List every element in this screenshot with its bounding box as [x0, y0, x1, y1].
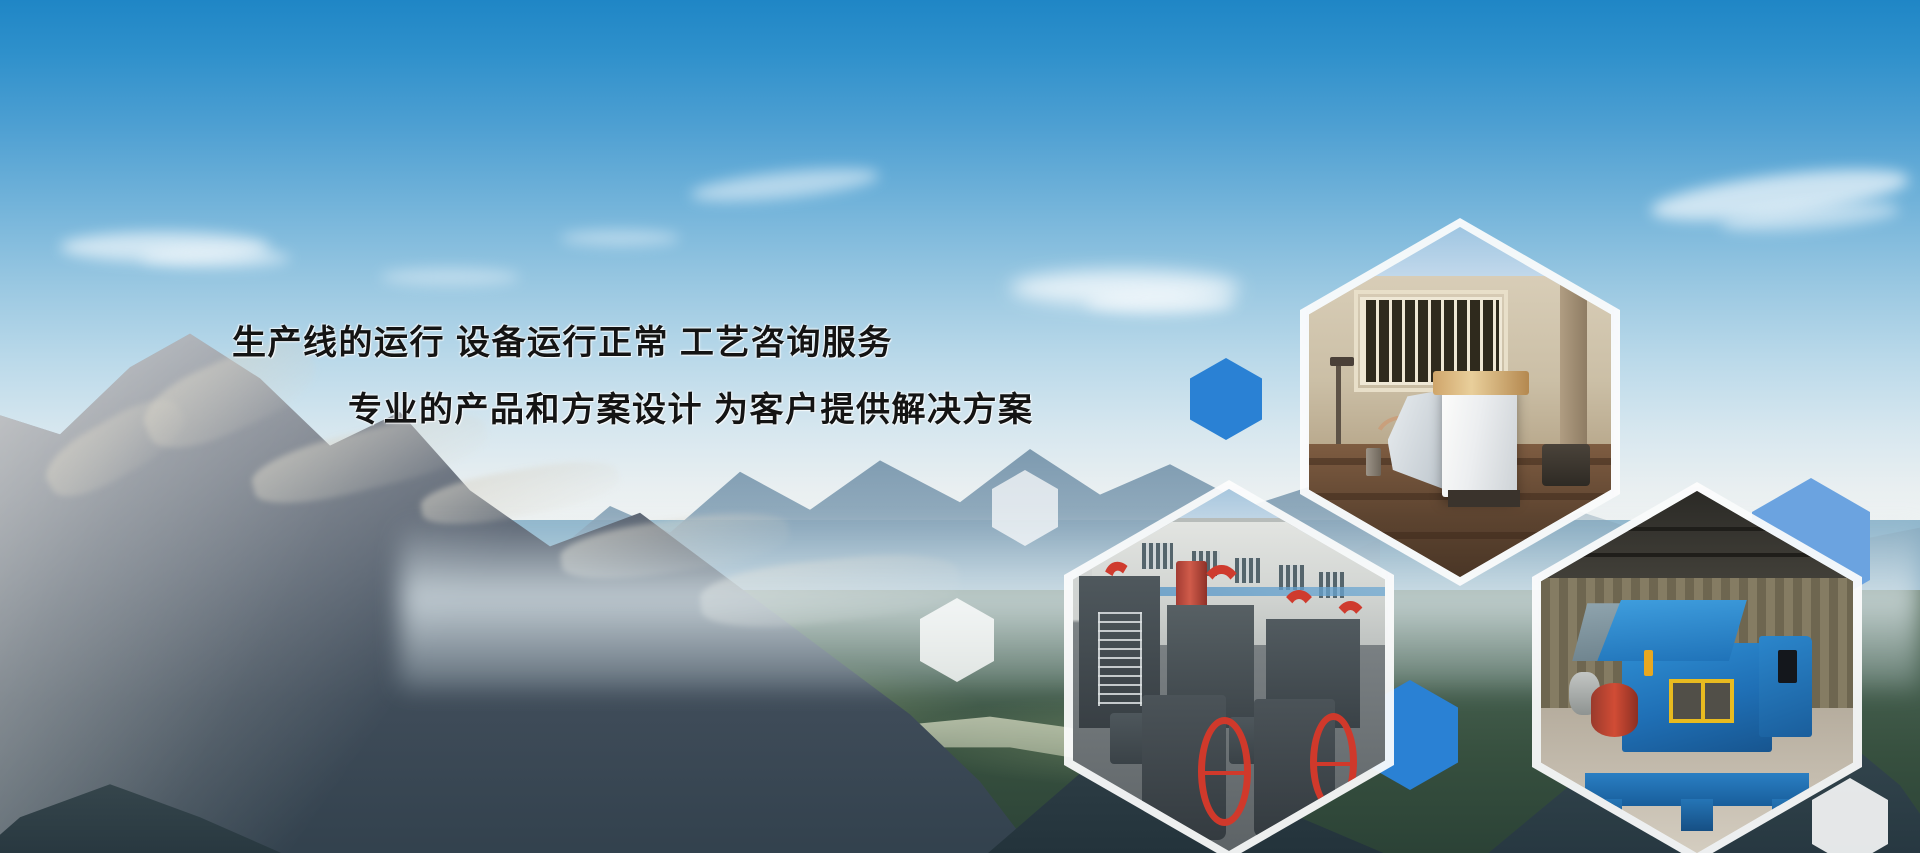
hex-photo-blue-shredder-machine[interactable]	[1532, 482, 1862, 853]
headline-line-2: 专业的产品和方案设计 为客户提供解决方案	[0, 393, 1060, 427]
cloud-icon	[560, 230, 680, 246]
cloud-icon	[140, 248, 290, 268]
hex-photo-grey-ladle-line[interactable]	[1064, 480, 1394, 853]
cloud-icon	[380, 268, 520, 286]
cloud-icon	[1085, 292, 1235, 314]
hero-banner: 生产线的运行 设备运行正常 工艺咨询服务 专业的产品和方案设计 为客户提供解决方…	[0, 0, 1920, 853]
banner-headline: 生产线的运行 设备运行正常 工艺咨询服务 专业的产品和方案设计 为客户提供解决方…	[0, 326, 1060, 427]
headline-line-1: 生产线的运行 设备运行正常 工艺咨询服务	[0, 326, 1060, 360]
